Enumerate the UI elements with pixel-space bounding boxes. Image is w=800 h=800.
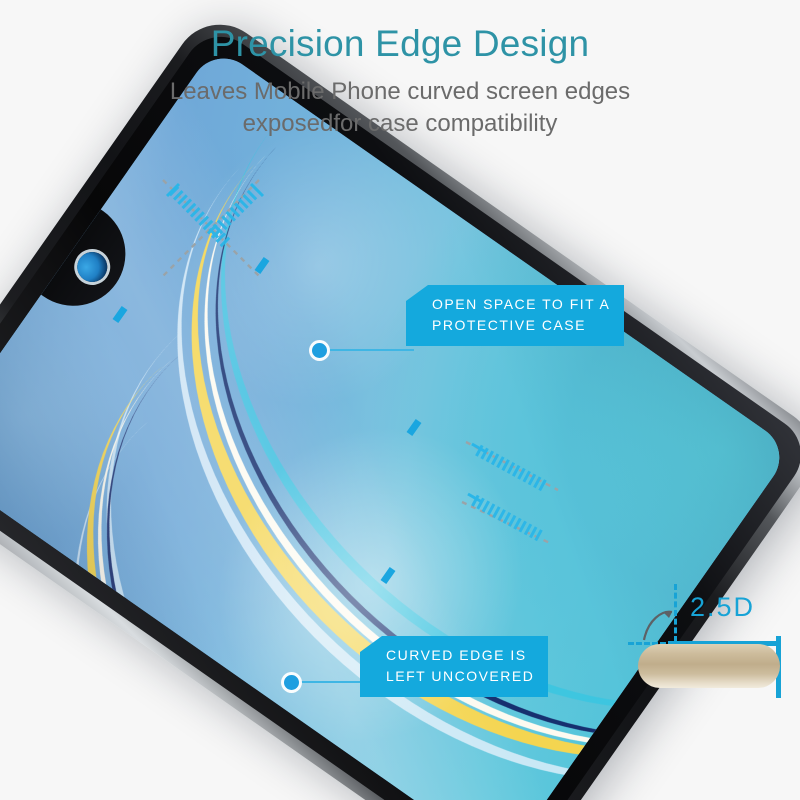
glass-cross-section (638, 644, 780, 688)
header: Precision Edge Design Leaves Mobile Phon… (0, 0, 800, 139)
registration-crosshair-icon (452, 432, 572, 552)
callout-open-space[interactable]: OPEN SPACE TO FIT A PROTECTIVE CASE (406, 285, 624, 346)
callout-line-2: PROTECTIVE CASE (432, 315, 610, 336)
callout-anchor-dot (284, 675, 299, 690)
product-feature-graphic: Precision Edge Design Leaves Mobile Phon… (0, 0, 800, 800)
callout-line-1: CURVED EDGE IS (386, 645, 534, 666)
subtitle-line-1: Leaves Mobile Phone curved screen edges (0, 76, 800, 108)
front-camera-icon (71, 246, 113, 288)
page-title: Precision Edge Design (0, 0, 800, 64)
callout-curved-edge[interactable]: CURVED EDGE IS LEFT UNCOVERED (360, 636, 548, 697)
subtitle-line-2: exposedfor case compatibility (0, 108, 800, 140)
page-subtitle: Leaves Mobile Phone curved screen edges … (0, 64, 800, 139)
callout-anchor-dot (312, 343, 327, 358)
callout-line-1: OPEN SPACE TO FIT A (432, 294, 610, 315)
diagram-curve-arrow-icon (638, 602, 684, 648)
registration-crosshair-icon (155, 172, 275, 292)
callout-pointer-line (318, 349, 414, 351)
callout-line-2: LEFT UNCOVERED (386, 666, 534, 687)
edge-diagram-label: 2.5D (690, 594, 755, 621)
edge-curvature-diagram: 2.5D (628, 578, 796, 700)
